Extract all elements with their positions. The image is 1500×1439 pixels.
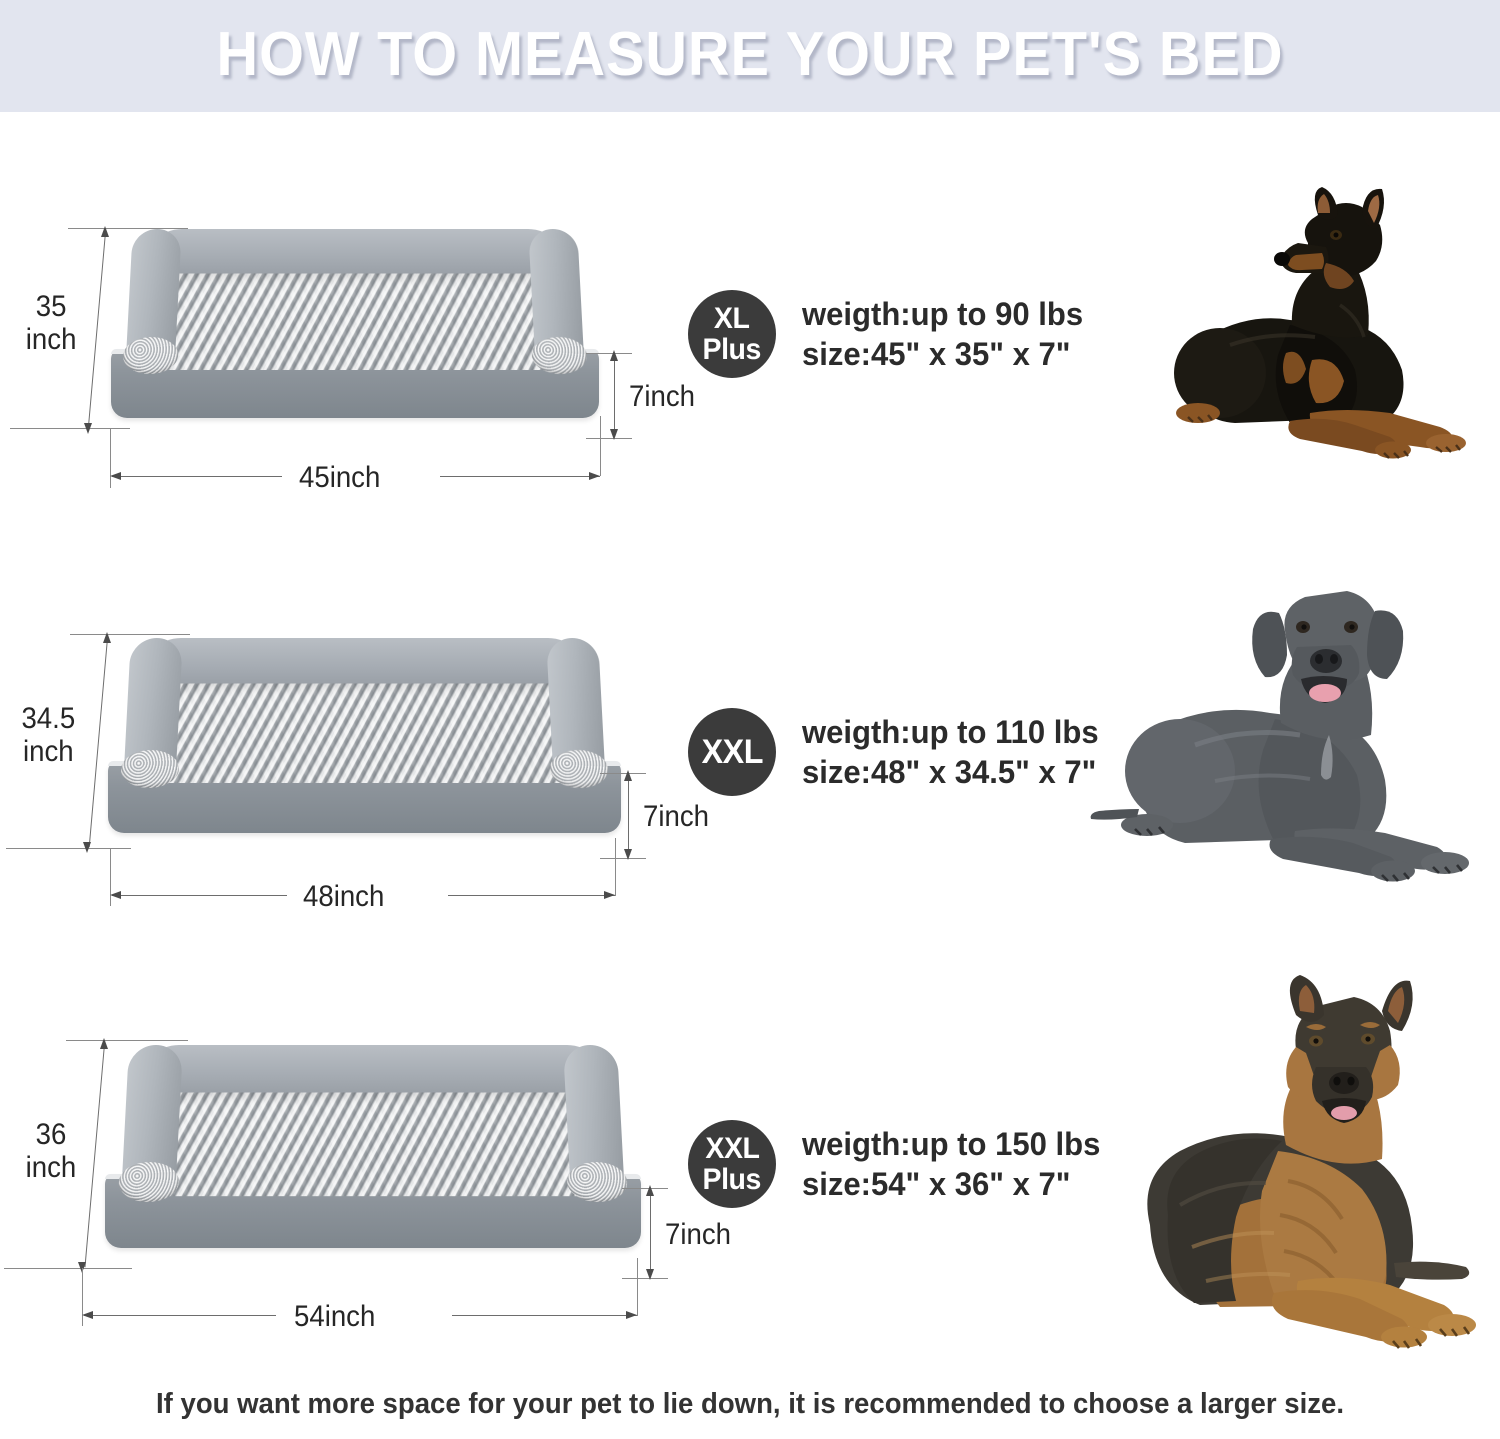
extension-line xyxy=(622,1278,668,1279)
arrow-down-icon xyxy=(610,429,618,440)
width-value: 45inch xyxy=(299,461,380,495)
height-value: 7inch xyxy=(629,380,695,414)
size-text: size:45" x 35" x 7" xyxy=(802,334,1083,374)
arrow-left-icon xyxy=(82,1311,93,1319)
arrow-left-icon xyxy=(110,891,121,899)
width-value: 48inch xyxy=(303,880,384,914)
dimension-line xyxy=(628,776,629,856)
dog-photo-german-shepherd xyxy=(1110,975,1500,1375)
bed-graphic xyxy=(92,628,637,866)
dimension-line xyxy=(112,895,287,896)
badge-line-1: XXL xyxy=(701,737,762,768)
arrow-down-icon xyxy=(84,423,92,434)
arrow-up-icon xyxy=(624,770,632,781)
dimension-line xyxy=(440,476,600,477)
dog-photo-great-dane xyxy=(1085,585,1495,905)
size-spec: XXL weigth:up to 110 lbs size:48" x 34.5… xyxy=(688,708,1108,796)
extension-line xyxy=(622,1188,668,1189)
spec-text: weigth:up to 150 lbs size:54" x 36" x 7" xyxy=(802,1124,1110,1204)
pet-bed-illustration xyxy=(95,220,615,450)
pet-bed-illustration xyxy=(92,628,637,866)
extension-line xyxy=(600,416,601,476)
size-badge-xxl-plus[interactable]: XXL Plus xyxy=(688,1120,776,1208)
size-row-xl-plus: 35 inch 45inch 7inch XL Plus weigth:up t… xyxy=(0,180,1500,580)
bolster-end-cap xyxy=(566,1162,629,1202)
bed-graphic xyxy=(95,220,615,450)
extension-line xyxy=(637,1258,638,1316)
arrow-right-icon xyxy=(604,891,615,899)
extension-line xyxy=(600,858,646,859)
dimension-line xyxy=(452,1315,637,1316)
bed-cushion xyxy=(156,273,553,369)
badge-line-1: XL xyxy=(714,303,749,334)
size-text: size:48" x 34.5" x 7" xyxy=(802,752,1099,792)
bed-left-bolster xyxy=(124,638,183,786)
spec-text: weigth:up to 110 lbs size:48" x 34.5" x … xyxy=(802,712,1108,792)
weight-text: weigth:up to 110 lbs xyxy=(802,712,1099,752)
dimension-line xyxy=(650,1191,651,1276)
arrow-up-icon xyxy=(103,632,111,643)
extension-line xyxy=(68,228,188,229)
height-value: 7inch xyxy=(643,800,709,834)
extension-line xyxy=(66,1040,188,1041)
badge-line-1: XXL xyxy=(705,1133,759,1164)
extension-line xyxy=(10,428,130,429)
dog-photo-doberman xyxy=(1140,185,1490,475)
extension-line xyxy=(586,438,632,439)
bed-cushion xyxy=(155,1092,591,1196)
depth-value: 35 xyxy=(18,290,84,323)
width-value: 54inch xyxy=(294,1300,375,1334)
footer-note: If you want more space for your pet to l… xyxy=(38,1388,1463,1421)
arrow-right-icon xyxy=(589,472,600,480)
arrow-down-icon xyxy=(83,842,91,853)
bed-right-bolster xyxy=(546,638,605,786)
arrow-up-icon xyxy=(101,226,109,237)
depth-value: 36 xyxy=(16,1118,86,1151)
bed-back-bolster xyxy=(141,638,588,690)
bed-back-bolster xyxy=(139,1045,606,1100)
arrow-up-icon xyxy=(610,350,618,361)
spec-text: weigth:up to 90 lbs size:45" x 35" x 7" xyxy=(802,294,1092,374)
depth-unit: inch xyxy=(18,323,84,356)
arrow-right-icon xyxy=(626,1311,637,1319)
extension-line xyxy=(4,1268,132,1269)
bed-right-bolster xyxy=(528,229,585,372)
bed-graphic xyxy=(88,1035,658,1283)
bed-left-bolster xyxy=(125,229,182,372)
depth-unit: inch xyxy=(16,1151,86,1184)
dimension-line xyxy=(84,1315,276,1316)
extension-line xyxy=(615,838,616,896)
depth-value: 34.5 xyxy=(6,702,91,735)
weight-text: weigth:up to 90 lbs xyxy=(802,294,1083,334)
pet-bed-illustration xyxy=(88,1035,658,1283)
bed-cushion xyxy=(156,683,573,783)
bed-right-bolster xyxy=(563,1045,625,1199)
size-text: size:54" x 36" x 7" xyxy=(802,1164,1100,1204)
depth-unit: inch xyxy=(6,735,91,768)
arrow-up-icon xyxy=(100,1038,108,1049)
page-title: HOW TO MEASURE YOUR PET'S BED xyxy=(53,16,1448,94)
arrow-down-icon xyxy=(624,849,632,860)
dimension-line xyxy=(614,356,615,436)
arrow-left-icon xyxy=(110,472,121,480)
bed-back-bolster xyxy=(142,229,568,280)
height-value: 7inch xyxy=(665,1218,731,1252)
arrow-down-icon xyxy=(646,1269,654,1280)
arrow-up-icon xyxy=(646,1185,654,1196)
weight-text: weigth:up to 150 lbs xyxy=(802,1124,1100,1164)
dimension-line xyxy=(112,476,282,477)
badge-line-2: Plus xyxy=(703,334,761,365)
extension-line xyxy=(6,848,131,849)
badge-line-2: Plus xyxy=(703,1164,761,1195)
size-spec: XL Plus weigth:up to 90 lbs size:45" x 3… xyxy=(688,290,1092,378)
extension-line xyxy=(600,773,646,774)
bed-left-bolster xyxy=(121,1045,183,1199)
size-badge-xl-plus[interactable]: XL Plus xyxy=(688,290,776,378)
dimension-line xyxy=(448,895,615,896)
extension-line xyxy=(70,634,190,635)
extension-line xyxy=(586,353,632,354)
size-badge-xxl[interactable]: XXL xyxy=(688,708,776,796)
size-row-xxl-plus: 36 inch 54inch 7inch XXL Plus weigth:up … xyxy=(0,1000,1500,1400)
size-spec: XXL Plus weigth:up to 150 lbs size:54" x… xyxy=(688,1120,1110,1208)
size-row-xxl: 34.5 inch 48inch 7inch XXL weigth:up to … xyxy=(0,590,1500,990)
